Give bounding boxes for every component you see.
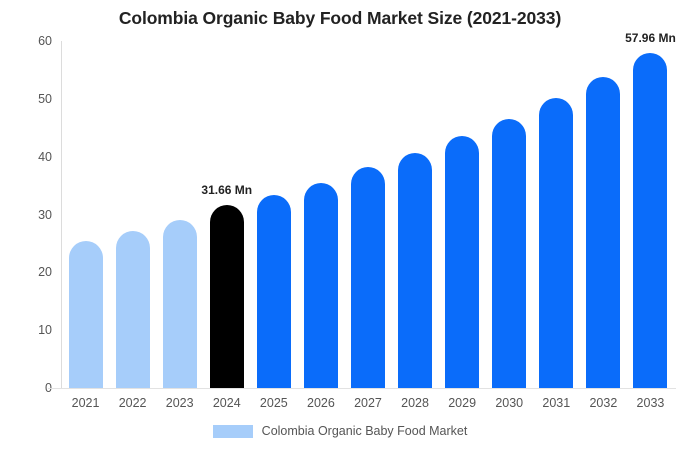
- bar-value-label: 31.66 Mn: [201, 183, 252, 197]
- x-axis-tick-label: 2030: [486, 396, 533, 410]
- bar-2033[interactable]: [633, 53, 667, 388]
- chart-legend[interactable]: Colombia Organic Baby Food Market: [0, 424, 680, 438]
- bar-group[interactable]: [69, 41, 103, 388]
- bar-group[interactable]: [304, 41, 338, 388]
- bar-2030[interactable]: [492, 119, 526, 389]
- x-axis-tick-label: 2026: [297, 396, 344, 410]
- bar-group[interactable]: [351, 41, 385, 388]
- x-axis-tick-label: 2028: [392, 396, 439, 410]
- x-axis-tick-label: 2023: [156, 396, 203, 410]
- y-axis-tick-label: 0: [6, 381, 52, 395]
- chart-title: Colombia Organic Baby Food Market Size (…: [0, 8, 680, 29]
- bar-group[interactable]: [445, 41, 479, 388]
- x-axis-tick-label: 2024: [203, 396, 250, 410]
- plot-area: 31.66 Mn57.96 Mn: [62, 41, 674, 388]
- y-axis-tick-label: 10: [6, 323, 52, 337]
- x-axis-tick-label: 2029: [439, 396, 486, 410]
- x-axis-tick-label: 2033: [627, 396, 674, 410]
- bar-group[interactable]: [492, 41, 526, 388]
- x-axis-tick-label: 2027: [344, 396, 391, 410]
- x-axis-line: [48, 388, 676, 389]
- bar-2029[interactable]: [445, 136, 479, 388]
- x-axis-tick-label: 2032: [580, 396, 627, 410]
- bar-group[interactable]: 57.96 Mn: [633, 41, 667, 388]
- x-axis-tick-label: 2031: [533, 396, 580, 410]
- legend-label: Colombia Organic Baby Food Market: [262, 424, 468, 438]
- y-axis: 0102030405060: [0, 0, 52, 450]
- bar-2026[interactable]: [304, 183, 338, 388]
- x-axis-tick-label: 2025: [250, 396, 297, 410]
- bar-2022[interactable]: [116, 231, 150, 388]
- bar-group[interactable]: 31.66 Mn: [210, 41, 244, 388]
- y-axis-tick-label: 60: [6, 34, 52, 48]
- bar-group[interactable]: [539, 41, 573, 388]
- y-axis-tick-label: 30: [6, 208, 52, 222]
- y-axis-tick-label: 20: [6, 265, 52, 279]
- bar-2023[interactable]: [163, 220, 197, 388]
- y-axis-tick-label: 40: [6, 150, 52, 164]
- bar-2027[interactable]: [351, 167, 385, 388]
- bar-group[interactable]: [163, 41, 197, 388]
- x-axis-tick-label: 2021: [62, 396, 109, 410]
- bar-2021[interactable]: [69, 241, 103, 388]
- bar-group[interactable]: [586, 41, 620, 388]
- bar-2024[interactable]: [210, 205, 244, 388]
- bar-group[interactable]: [116, 41, 150, 388]
- bar-2028[interactable]: [398, 153, 432, 388]
- bar-2032[interactable]: [586, 77, 620, 388]
- bar-group[interactable]: [398, 41, 432, 388]
- bar-chart: Colombia Organic Baby Food Market Size (…: [0, 0, 680, 450]
- bar-value-label: 57.96 Mn: [625, 31, 676, 45]
- bar-group[interactable]: [257, 41, 291, 388]
- bar-2031[interactable]: [539, 98, 573, 388]
- y-axis-tick-label: 50: [6, 92, 52, 106]
- bar-2025[interactable]: [257, 195, 291, 388]
- x-axis-tick-label: 2022: [109, 396, 156, 410]
- legend-swatch-icon: [213, 425, 253, 438]
